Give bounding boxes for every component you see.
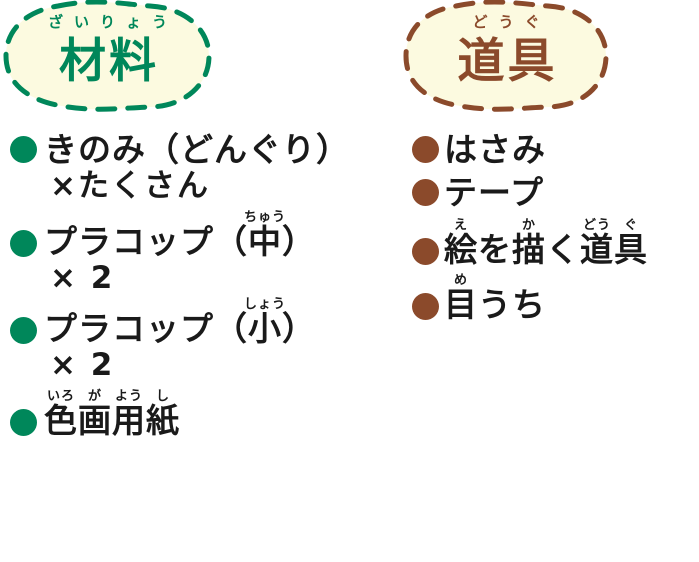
ruby-furigana: し <box>146 389 180 404</box>
plain-run: く <box>546 230 580 269</box>
materials-item-2-ruby-base: 小 <box>244 309 286 348</box>
materials-list: きのみ（どんぐり） ×たくさん プラコップ（中ちゅう） × 2 プラコップ（小し… <box>0 128 400 440</box>
ruby-base: 目 <box>444 285 478 324</box>
tools-column: どうぐ 道具 はさみ テープ 絵えを描かく道どう具ぐ 目めうち <box>400 0 699 112</box>
ruby-base: 画 <box>78 401 112 440</box>
bullet-icon <box>10 317 37 344</box>
materials-item-2-name: プラコップ（小しょう） <box>44 297 400 348</box>
bullet-icon <box>412 179 439 206</box>
materials-item-3-name: 色いろ画が用よう紙し <box>44 389 400 440</box>
materials-item-0-quantity: ×たくさん <box>44 169 400 204</box>
materials-item-2-quantity: × 2 <box>44 348 400 383</box>
list-item: きのみ（どんぐり） ×たくさん <box>0 132 400 204</box>
ruby-furigana: よう <box>112 389 146 404</box>
materials-item-1-name: プラコップ（中ちゅう） <box>44 210 400 261</box>
materials-item-2-ruby: 小しょう <box>248 309 282 348</box>
materials-item-1-ruby-base: 中 <box>244 222 286 261</box>
plain-run: を <box>478 230 512 269</box>
ruby-furigana: え <box>444 218 478 233</box>
list-item: プラコップ（中ちゅう） × 2 <box>0 210 400 296</box>
list-item: プラコップ（小しょう） × 2 <box>0 297 400 383</box>
materials-item-0-name: きのみ（どんぐり） <box>44 132 400 169</box>
tools-list: はさみ テープ 絵えを描かく道どう具ぐ 目めうち <box>400 128 699 324</box>
ruby-furigana: か <box>512 218 546 233</box>
ruby-group: 道どう <box>580 230 614 269</box>
materials-item-1-ruby: 中ちゅう <box>248 222 282 261</box>
materials-heading-text: ざいりょう 材料 <box>0 14 215 92</box>
ruby-base: 紙 <box>146 401 180 440</box>
bullet-icon <box>10 230 37 257</box>
list-item: はさみ <box>400 132 699 169</box>
list-item: テープ <box>400 175 699 212</box>
ruby-group: 目め <box>444 285 478 324</box>
tools-heading-badge: どうぐ 道具 <box>400 0 612 112</box>
bullet-icon <box>10 409 37 436</box>
plain-run: はさみ <box>444 130 546 169</box>
ruby-furigana: ぐ <box>614 218 648 233</box>
materials-item-2-suffix: ） <box>282 309 316 348</box>
ruby-base: 色 <box>44 401 78 440</box>
bullet-icon <box>10 136 37 163</box>
ruby-base: 描 <box>512 230 546 269</box>
materials-item-1-ruby-text: ちゅう <box>244 210 286 225</box>
materials-column: ざいりょう 材料 きのみ（どんぐり） ×たくさん プラコップ（中ちゅう） × 2… <box>0 0 400 112</box>
ruby-group: 具ぐ <box>614 230 648 269</box>
materials-heading-badge: ざいりょう 材料 <box>0 0 215 112</box>
materials-item-1-prefix: プラコップ（ <box>44 222 248 261</box>
materials-item-1-suffix: ） <box>282 222 316 261</box>
list-item: 絵えを描かく道どう具ぐ <box>400 218 699 269</box>
ruby-base: 用 <box>112 401 146 440</box>
materials-item-1-quantity: × 2 <box>44 261 400 296</box>
tools-heading-furigana: どうぐ <box>400 14 612 31</box>
ruby-group: 色いろ <box>44 401 78 440</box>
tools-heading-label: 道具 <box>400 31 612 92</box>
bullet-icon <box>412 293 439 320</box>
ruby-base: 具 <box>614 230 648 269</box>
list-item: 色いろ画が用よう紙し <box>0 389 400 440</box>
ruby-group: 絵え <box>444 230 478 269</box>
ruby-group: 描か <box>512 230 546 269</box>
materials-item-2-ruby-text: しょう <box>244 297 286 312</box>
list-item: 目めうち <box>400 273 699 324</box>
ruby-furigana: いろ <box>44 389 78 404</box>
plain-run: テープ <box>444 173 544 212</box>
ruby-furigana: どう <box>580 218 614 233</box>
ruby-group: 用よう <box>112 401 146 440</box>
tools-item-2-name: 絵えを描かく道どう具ぐ <box>444 218 699 269</box>
tools-item-3-name: 目めうち <box>444 273 699 324</box>
bullet-icon <box>412 238 439 265</box>
ruby-group: 紙し <box>146 401 180 440</box>
materials-heading-label: 材料 <box>0 31 215 92</box>
tools-item-0-name: はさみ <box>444 132 699 169</box>
ruby-furigana: め <box>444 273 478 288</box>
ruby-furigana: が <box>78 389 112 404</box>
bullet-icon <box>412 136 439 163</box>
plain-run: うち <box>478 285 546 324</box>
ruby-base: 絵 <box>444 230 478 269</box>
materials-item-2-prefix: プラコップ（ <box>44 309 248 348</box>
materials-heading-furigana: ざいりょう <box>0 14 215 31</box>
tools-heading-text: どうぐ 道具 <box>400 14 612 92</box>
tools-item-1-name: テープ <box>444 175 699 212</box>
ruby-group: 画が <box>78 401 112 440</box>
ruby-base: 道 <box>580 230 614 269</box>
